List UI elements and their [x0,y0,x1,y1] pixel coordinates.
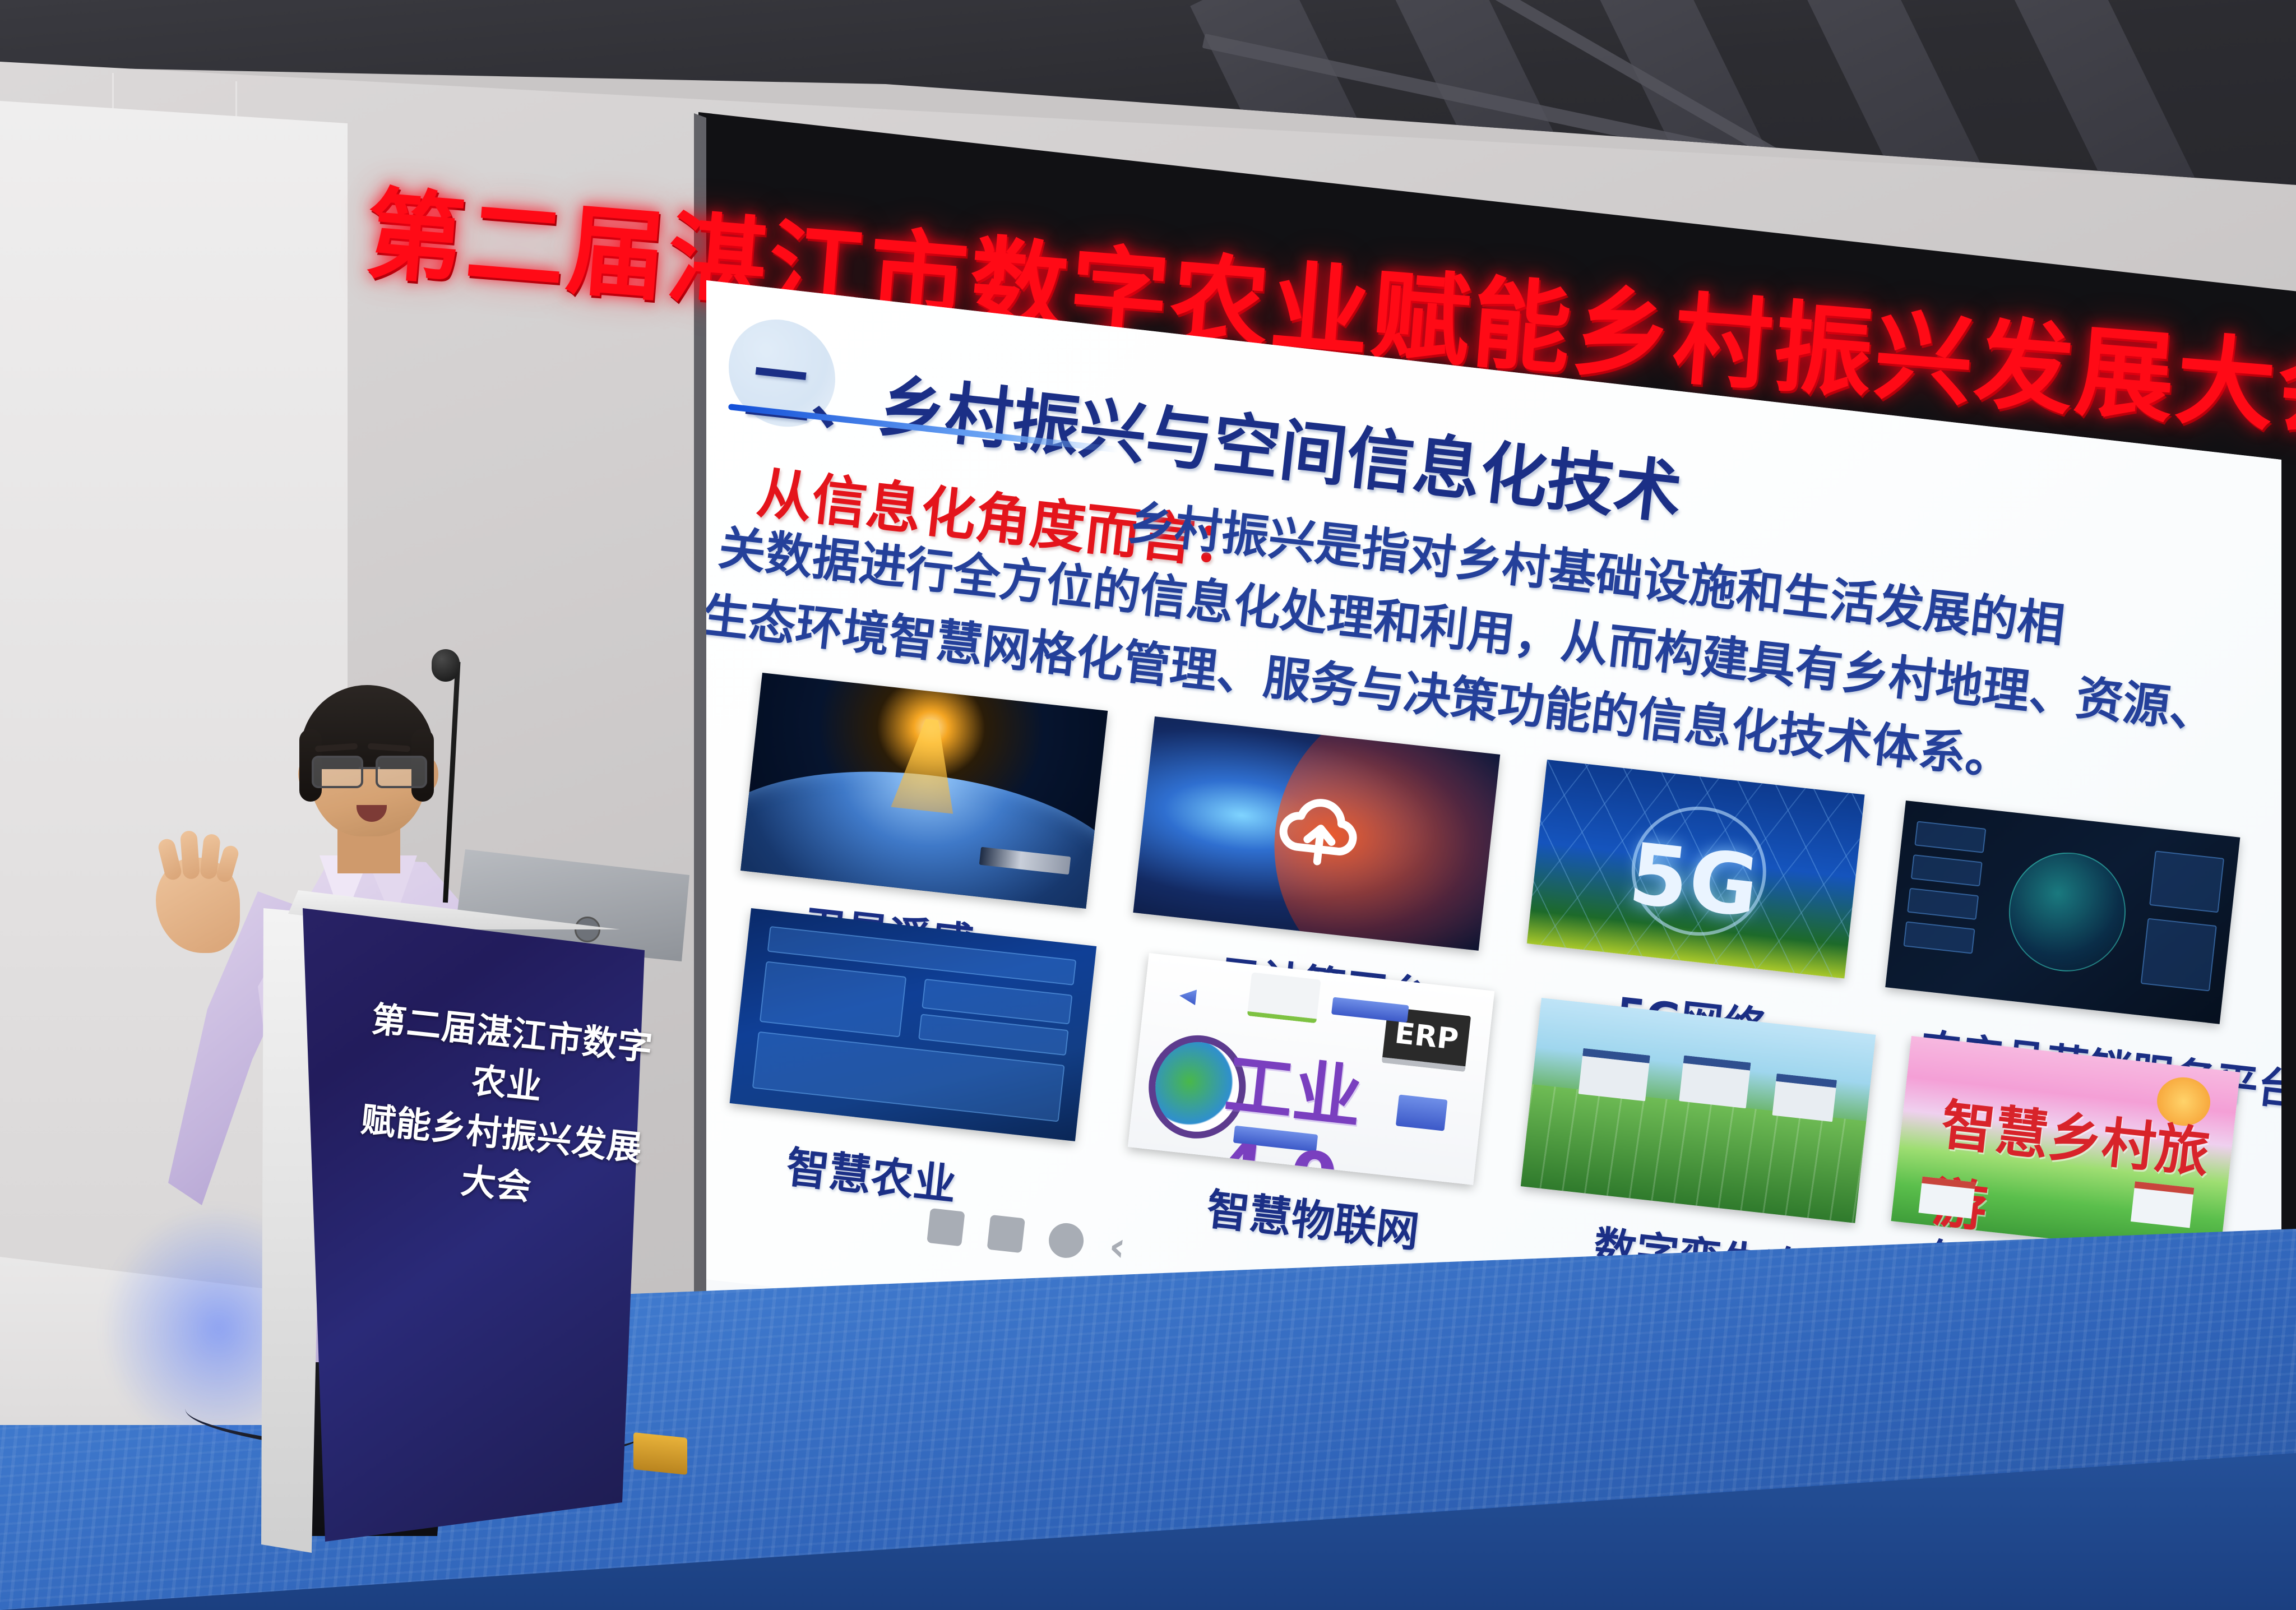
finger [180,830,200,880]
chevron-left-icon[interactable]: ‹ [1107,1228,1145,1266]
conference-photo-scene: 第二届湛江市数字农业赋能乡村振兴发展大会 二、乡村振兴与空间信息化技术 从信息化… [0,0,2296,1610]
greenhouse-icon [1772,1074,1837,1122]
house-icon [2131,1181,2194,1228]
podium-title: 第二届湛江市数字农业 赋能乡村振兴发展大会 [337,992,671,1225]
satellite-beam [891,716,963,814]
more-icon[interactable] [1047,1222,1085,1260]
glasses-icon [312,756,427,785]
microphone-head [432,649,460,682]
dashboard-card [1907,888,1979,920]
thumbnail-rural-tourism: 智慧乡村旅游 [1891,1036,2241,1257]
video-camera-icon[interactable] [927,1208,965,1246]
thumbnail-satellite-remote-sensing [740,673,1108,909]
dashboard-globe [2003,846,2132,977]
comment-icon[interactable] [987,1215,1025,1253]
thumbnail-smart-agriculture [730,908,1097,1141]
thumbnail-agri-marketing-platform [1885,801,2240,1024]
greenhouse-icon [1578,1048,1650,1101]
cloud-upload-icon [1257,780,1384,880]
dashboard-card [2141,918,2217,991]
dashboard-card [1914,821,1986,853]
lens-left [312,756,363,788]
thumbnail-industry-40: ERP 工业4.0 [1128,953,1494,1185]
lens-right [376,756,427,788]
dashboard-card [1911,854,1983,887]
satellite-icon [979,847,1071,875]
dashboard-card [1903,922,1975,954]
truck-icon [1247,972,1321,1023]
thumbnail-digital-twin-farm [1521,998,1876,1223]
thumbnail-cloud-computing [1133,716,1500,951]
laptop-logo [575,917,600,942]
thumbnail-5g-network: 5G [1527,760,1865,979]
cycle-arrow [1178,988,1235,1010]
floor-socket-plate [633,1432,687,1475]
cycle-arrow [1331,997,1409,1023]
dashboard-card [2149,851,2224,913]
house-icon [1919,1177,1975,1219]
greenhouse-icon [1679,1056,1751,1108]
ui-panel [760,961,906,1038]
